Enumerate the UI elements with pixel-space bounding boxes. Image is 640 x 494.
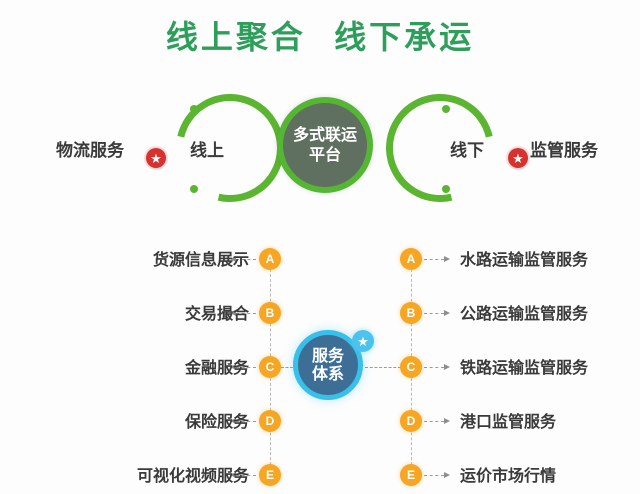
offline-arc — [366, 74, 515, 223]
right-node-c[interactable]: C — [400, 356, 422, 378]
left-item-label-e: 可视化视频服务 — [137, 468, 249, 484]
right-connector-d — [424, 421, 444, 422]
right-arrow-e — [444, 472, 450, 478]
left-node-e[interactable]: E — [259, 464, 281, 486]
right-item-label-d: 港口监管服务 — [460, 414, 556, 430]
offline-arc-cap-top — [442, 105, 450, 113]
online-arc-cap-bottom — [190, 185, 198, 193]
online-arc-cap-top — [190, 105, 198, 113]
left-node-d[interactable]: D — [259, 410, 281, 432]
left-item-label-c: 金融服务 — [185, 360, 249, 376]
left-node-a[interactable]: A — [259, 248, 281, 270]
right-item-label-e: 运价市场行情 — [460, 468, 556, 484]
right-arrow-a — [444, 256, 450, 262]
star-icon-left: ★ — [146, 148, 166, 168]
platform-core-line2: 平台 — [309, 145, 341, 165]
right-item-label-b: 公路运输监管服务 — [460, 306, 588, 322]
right-arrow-c — [444, 364, 450, 370]
left-node-b[interactable]: B — [259, 302, 281, 324]
left-item-label-d: 保险服务 — [185, 414, 249, 430]
right-connector-e — [424, 475, 444, 476]
supervision-service-label: 监管服务 — [530, 136, 598, 161]
core-to-right-connector — [365, 367, 401, 368]
right-node-a[interactable]: A — [400, 248, 422, 270]
right-connector-b — [424, 313, 444, 314]
service-system-line1: 服务 — [312, 347, 344, 365]
left-node-c[interactable]: C — [259, 356, 281, 378]
offline-label: 线下 — [450, 136, 484, 161]
right-connector-c — [424, 367, 444, 368]
right-connector-a — [424, 259, 444, 260]
star-icon-right: ★ — [508, 148, 528, 168]
platform-core-line1: 多式联运 — [293, 125, 357, 145]
page-title: 线上聚合 线下承运 — [0, 12, 640, 58]
star-icon-center: ★ — [352, 330, 374, 352]
right-arrow-b — [444, 310, 450, 316]
core-to-left-connector — [281, 367, 293, 368]
right-node-b[interactable]: B — [400, 302, 422, 324]
infographic-canvas: 线上聚合 线下承运 多式联运 平台 物流服务 ★ 线上 线下 ★ 监管服务 A … — [0, 0, 640, 494]
right-node-d[interactable]: D — [400, 410, 422, 432]
platform-core-circle[interactable]: 多式联运 平台 — [277, 97, 373, 193]
right-item-label-c: 铁路运输监管服务 — [460, 360, 588, 376]
right-node-e[interactable]: E — [400, 464, 422, 486]
right-item-label-a: 水路运输监管服务 — [460, 252, 588, 268]
offline-arc-cap-bottom — [442, 185, 450, 193]
left-item-label-a: 货源信息展示 — [153, 252, 249, 268]
left-item-label-b: 交易撮合 — [185, 306, 249, 322]
right-arrow-d — [444, 418, 450, 424]
service-system-line2: 体系 — [312, 365, 344, 383]
logistics-service-label: 物流服务 — [56, 136, 124, 161]
online-label: 线上 — [190, 136, 224, 161]
